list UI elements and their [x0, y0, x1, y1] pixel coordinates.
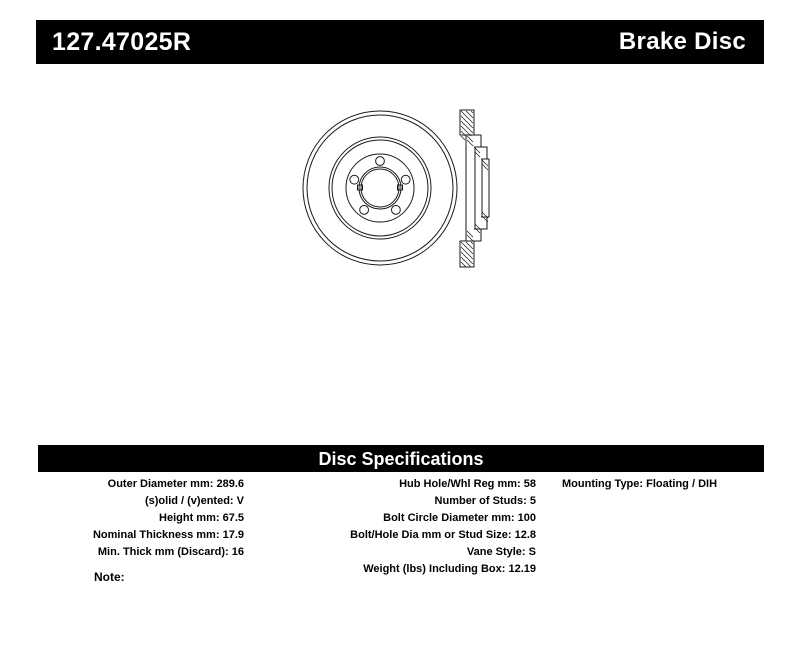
spec-value: 12.19: [508, 563, 536, 575]
spec-label: (s)olid / (v)ented:: [145, 495, 234, 507]
spec-section-title: Disc Specifications: [318, 450, 483, 468]
spec-label: Vane Style:: [467, 546, 526, 558]
brake-disc-cross-section-view: [460, 110, 489, 267]
spec-label: Number of Studs:: [435, 495, 527, 507]
spec-row: Number of Studs: 5: [282, 493, 536, 510]
spec-row: Vane Style: S: [282, 544, 536, 561]
spec-label: Min. Thick mm (Discard):: [98, 546, 229, 558]
spec-value: S: [529, 546, 536, 558]
spec-row: Mounting Type: Floating / DIH: [562, 476, 770, 493]
spec-label: Bolt Circle Diameter mm:: [383, 512, 514, 524]
spec-section-bar: Disc Specifications: [38, 445, 764, 472]
spec-row: Min. Thick mm (Discard): 16: [30, 544, 244, 561]
spec-value: 5: [530, 495, 536, 507]
spec-label: Hub Hole/Whl Reg mm:: [399, 478, 521, 490]
spec-row: Bolt/Hole Dia mm or Stud Size: 12.8: [282, 527, 536, 544]
page-title: Brake Disc: [619, 30, 746, 54]
spec-label: Mounting Type:: [562, 478, 643, 490]
spec-row: Nominal Thickness mm: 17.9: [30, 527, 244, 544]
spec-label: Outer Diameter mm:: [108, 478, 214, 490]
spec-value: 58: [524, 478, 536, 490]
spec-row: Outer Diameter mm: 289.6: [30, 476, 244, 493]
spec-row: Bolt Circle Diameter mm: 100: [282, 510, 536, 527]
spec-value: 16: [232, 546, 244, 558]
note-label: Note:: [94, 570, 125, 584]
spec-value: V: [237, 495, 244, 507]
spec-row: Height mm: 67.5: [30, 510, 244, 527]
spec-table: Outer Diameter mm: 289.6 (s)olid / (v)en…: [30, 476, 770, 578]
spec-label: Bolt/Hole Dia mm or Stud Size:: [350, 529, 511, 541]
spec-label: Nominal Thickness mm:: [93, 529, 220, 541]
spec-column-right: Mounting Type: Floating / DIH: [544, 476, 770, 578]
spec-value: 100: [518, 512, 536, 524]
note-block: Note:: [94, 570, 428, 584]
spec-column-middle: Hub Hole/Whl Reg mm: 58 Number of Studs:…: [282, 476, 544, 578]
spec-column-left: Outer Diameter mm: 289.6 (s)olid / (v)en…: [30, 476, 282, 578]
header-bar: 127.47025R Brake Disc: [36, 20, 764, 64]
spec-label: Height mm:: [159, 512, 220, 524]
technical-drawing: [275, 95, 525, 295]
spec-row: Hub Hole/Whl Reg mm: 58: [282, 476, 536, 493]
spec-value: 67.5: [223, 512, 244, 524]
brake-disc-front-view: [303, 111, 457, 265]
part-number: 127.47025R: [52, 30, 191, 55]
spec-value: 12.8: [515, 529, 536, 541]
spec-value: 17.9: [223, 529, 244, 541]
spec-value: Floating / DIH: [646, 478, 717, 490]
spec-row: (s)olid / (v)ented: V: [30, 493, 244, 510]
spec-value: 289.6: [216, 478, 244, 490]
